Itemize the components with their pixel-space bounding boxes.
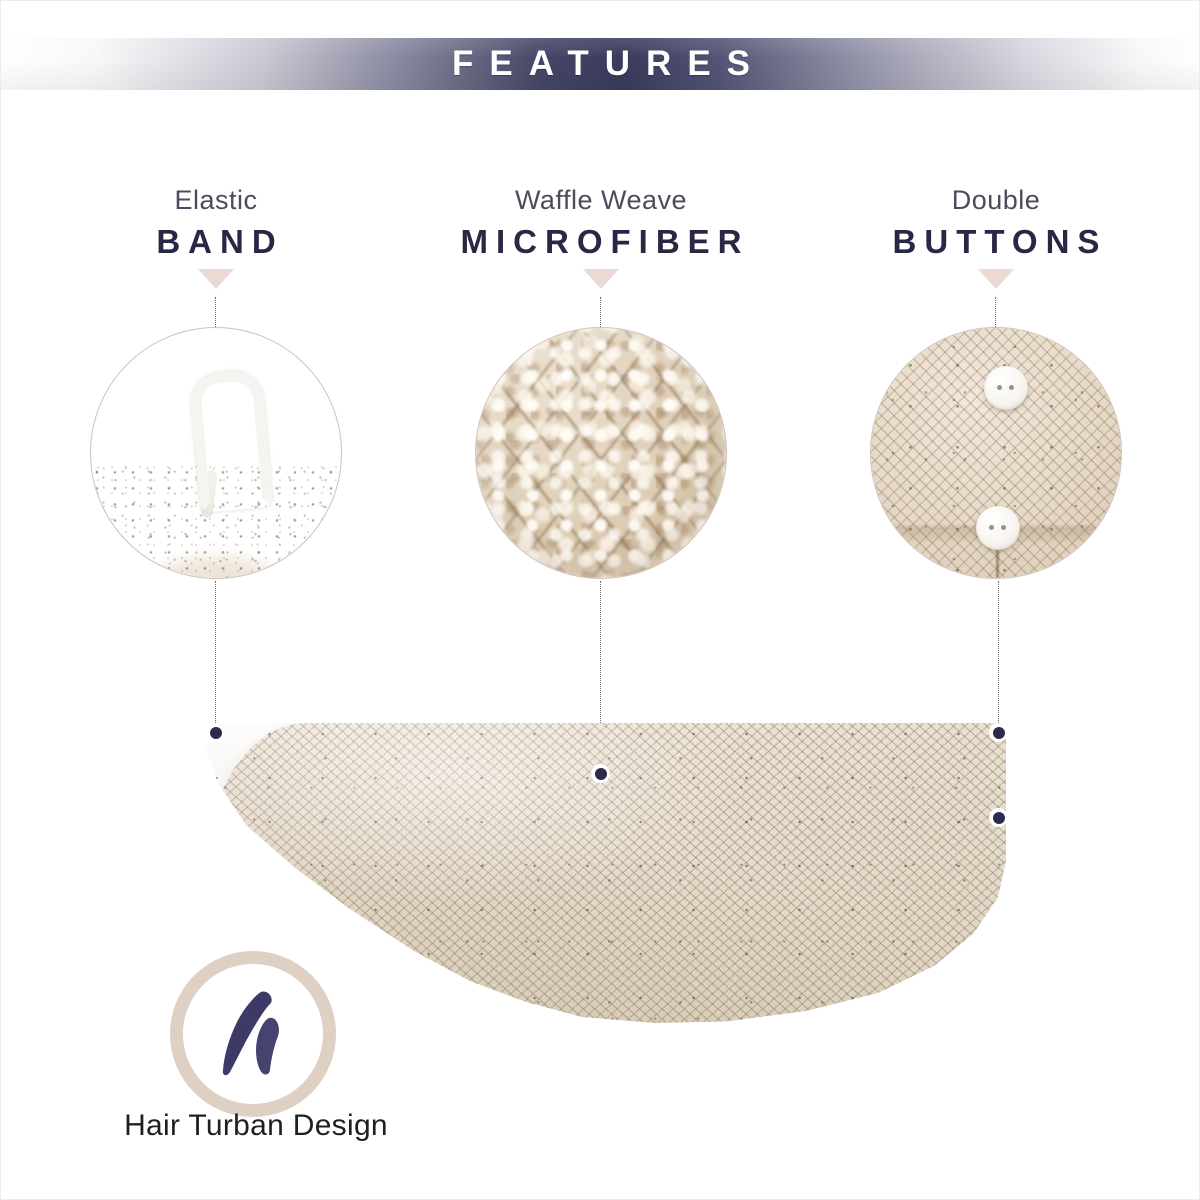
feature-sublabel: Elastic <box>6 183 426 217</box>
feature-photo-elastic-band <box>90 327 342 579</box>
button-top-icon <box>984 366 1028 410</box>
callout-pin-buttons-top <box>989 723 1008 742</box>
feature-mainlabel: BAND <box>6 221 426 263</box>
down-triangle-pointer-icon <box>583 269 619 289</box>
feature-mainlabel: MICROFIBER <box>391 221 811 263</box>
button-bottom-icon <box>976 506 1020 550</box>
elastic-loop <box>189 369 273 513</box>
brand-badge <box>170 951 336 1117</box>
feature-label-elastic-band: Elastic BAND <box>6 183 426 289</box>
photo-clip <box>871 328 1121 578</box>
page-title: FEATURES <box>1 38 1200 90</box>
feature-label-waffle-microfiber: Waffle Weave MICROFIBER <box>391 183 811 289</box>
connector-line-bottom-1 <box>215 581 216 733</box>
feature-sublabel: Waffle Weave <box>391 183 811 217</box>
feature-photo-waffle-microfiber <box>475 327 727 579</box>
feature-label-double-buttons: Double BUTTONS <box>786 183 1200 289</box>
weave-shading <box>476 328 726 578</box>
brand-caption: Hair Turban Design <box>41 1109 471 1143</box>
callout-pin-buttons-bottom <box>989 808 1008 827</box>
callout-pin-microfiber <box>591 764 610 783</box>
infographic-page: FEATURES Elastic BAND Waffle Weave MICRO… <box>0 0 1200 1200</box>
feature-sublabel: Double <box>786 183 1200 217</box>
down-triangle-pointer-icon <box>978 269 1014 289</box>
feature-photo-double-buttons <box>870 327 1122 579</box>
connector-line-top-1 <box>215 297 216 329</box>
down-triangle-pointer-icon <box>198 269 234 289</box>
callout-pin-elastic-band <box>206 723 225 742</box>
photo-clip <box>91 328 341 578</box>
connector-line-top-2 <box>600 297 601 329</box>
turban-logo-icon <box>183 964 323 1104</box>
connector-line-top-3 <box>995 297 996 329</box>
photo-clip <box>476 328 726 578</box>
feature-mainlabel: BUTTONS <box>786 221 1200 263</box>
